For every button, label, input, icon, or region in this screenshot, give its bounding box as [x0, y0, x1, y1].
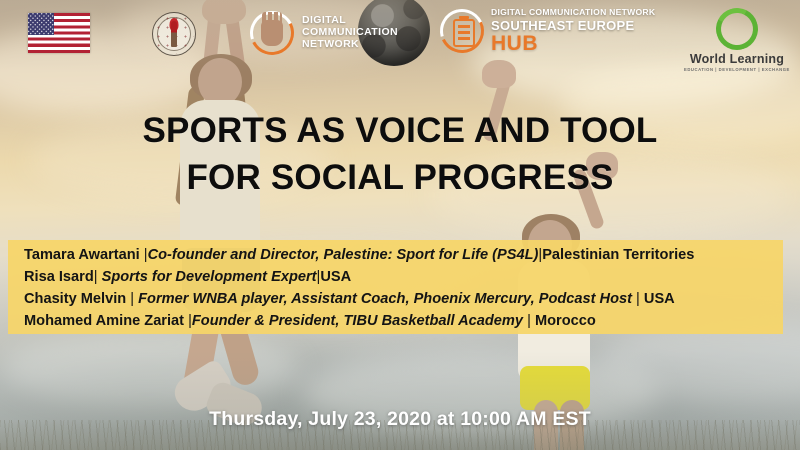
- logo-digital-communication-network: DIGITAL COMMUNICATION NETWORK: [250, 11, 398, 55]
- speaker-name: Risa Isard: [24, 269, 94, 285]
- speaker-name: Chasity Melvin: [24, 291, 130, 307]
- speaker-separator: |: [632, 291, 644, 307]
- logo-embassy-seal: [152, 12, 196, 56]
- speaker-country: Morocco: [535, 313, 596, 329]
- embassy-seal-icon: [152, 12, 196, 56]
- hub-line-3: HUB: [491, 33, 655, 54]
- speaker-row: Chasity Melvin | Former WNBA player, Ass…: [8, 288, 783, 310]
- hub-battery-icon: [440, 9, 484, 53]
- speaker-row: Mohamed Amine Zariat |Founder & Presiden…: [8, 310, 783, 332]
- dcn-wordmark: DIGITAL COMMUNICATION NETWORK: [302, 15, 398, 50]
- dcn-line-3: NETWORK: [302, 39, 398, 51]
- speakers-panel: Tamara Awartani |Co-founder and Director…: [8, 240, 783, 334]
- speaker-country: USA: [320, 269, 351, 285]
- speaker-row: Risa Isard| Sports for Development Exper…: [8, 266, 783, 288]
- event-datetime: Thursday, July 23, 2020 at 10:00 AM EST: [0, 408, 800, 431]
- speaker-role: Former WNBA player, Assistant Coach, Pho…: [138, 291, 632, 307]
- logo-world-learning: World Learning EDUCATION | DEVELOPMENT |…: [684, 8, 790, 72]
- speaker-role: Founder & President, TIBU Basketball Aca…: [192, 313, 523, 329]
- speaker-name: Tamara Awartani: [24, 247, 144, 263]
- speaker-separator: |: [523, 313, 535, 329]
- logo-us-flag: [28, 13, 90, 53]
- title-line-2: FOR SOCIAL PROGRESS: [0, 155, 800, 202]
- page-title: SPORTS AS VOICE AND TOOL FOR SOCIAL PROG…: [0, 108, 800, 202]
- us-flag-icon: [28, 13, 90, 53]
- world-learning-ring-icon: [710, 3, 763, 56]
- dcn-hand-icon: [250, 11, 294, 55]
- speaker-country: USA: [644, 291, 675, 307]
- hub-line-1: DIGITAL COMMUNICATION NETWORK: [491, 8, 655, 17]
- logo-southeast-europe-hub: DIGITAL COMMUNICATION NETWORK SOUTHEAST …: [440, 8, 655, 54]
- speaker-country: Palestinian Territories: [542, 247, 694, 263]
- title-line-1: SPORTS AS VOICE AND TOOL: [0, 108, 800, 155]
- speaker-row: Tamara Awartani |Co-founder and Director…: [8, 244, 783, 266]
- webinar-promo-poster: DIGITAL COMMUNICATION NETWORK DIGITAL CO…: [0, 0, 800, 450]
- hub-line-2: SOUTHEAST EUROPE: [491, 19, 655, 32]
- speaker-role: Co-founder and Director, Palestine: Spor…: [148, 247, 539, 263]
- sponsor-logo-bar: DIGITAL COMMUNICATION NETWORK DIGITAL CO…: [0, 0, 800, 70]
- us-flag-canton-icon: [28, 13, 54, 35]
- speaker-name: Mohamed Amine Zariat: [24, 313, 188, 329]
- world-learning-tagline: EDUCATION | DEVELOPMENT | EXCHANGE: [684, 67, 790, 72]
- speaker-separator: |: [94, 269, 102, 285]
- hub-wordmark: DIGITAL COMMUNICATION NETWORK SOUTHEAST …: [491, 8, 655, 54]
- speaker-separator: |: [130, 291, 138, 307]
- world-learning-name: World Learning: [684, 52, 790, 66]
- speaker-role: Sports for Development Expert: [102, 269, 317, 285]
